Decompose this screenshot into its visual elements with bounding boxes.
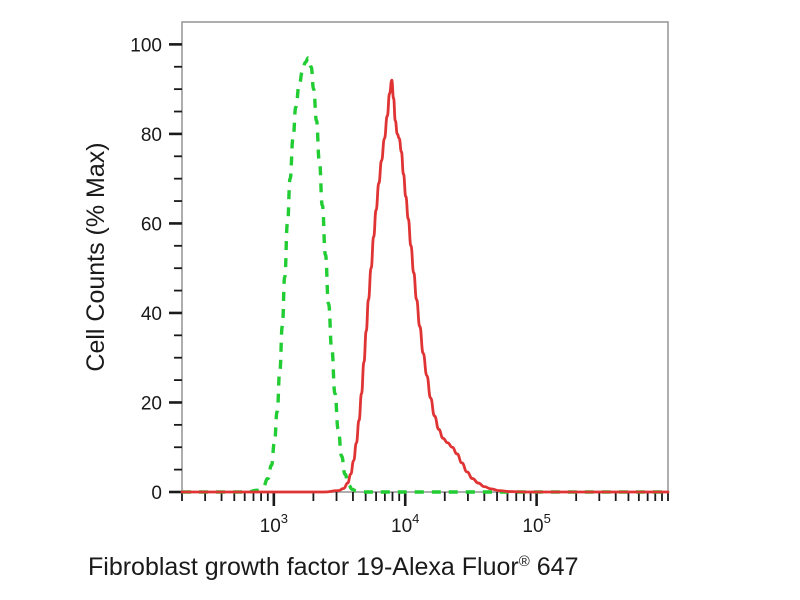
y-tick-label: 0 — [151, 483, 162, 504]
x-tick-label-base: 10 — [391, 516, 412, 537]
flow-cytometry-histogram-figure: 020406080100 103104105 Cell Counts (% Ma… — [0, 0, 800, 600]
x-tick-label-base: 10 — [522, 516, 543, 537]
y-axis: 020406080100 — [130, 35, 182, 504]
x-tick-label-exponent: 5 — [544, 511, 551, 526]
x-axis: 103104105 — [182, 492, 668, 537]
x-tick-label: 105 — [522, 511, 550, 537]
x-axis-title-tail: 647 — [530, 553, 579, 581]
histogram-curve-sample — [182, 80, 668, 492]
y-tick-label: 80 — [141, 125, 162, 146]
y-tick-label: 60 — [141, 214, 162, 235]
x-tick-label-exponent: 4 — [412, 511, 419, 526]
x-tick-label-base: 10 — [260, 516, 281, 537]
x-axis-title-text: Fibroblast growth factor 19-Alexa Fluor®… — [88, 553, 578, 581]
y-axis-title: Cell Counts (% Max) — [82, 142, 110, 371]
x-tick-label-exponent: 3 — [281, 511, 288, 526]
histogram-curve-control — [182, 58, 668, 492]
plot-frame — [182, 22, 668, 492]
x-axis-title: Fibroblast growth factor 19-Alexa Fluor®… — [88, 553, 578, 581]
x-tick-label: 103 — [260, 511, 288, 537]
y-tick-label: 100 — [130, 35, 162, 56]
x-tick-label: 104 — [391, 511, 419, 537]
y-tick-label: 20 — [141, 393, 162, 414]
y-tick-label: 40 — [141, 304, 162, 325]
x-axis-title-main: Fibroblast growth factor 19-Alexa Fluor — [88, 553, 519, 581]
y-axis-title-text: Cell Counts (% Max) — [82, 142, 110, 371]
registered-mark-icon: ® — [519, 553, 530, 570]
data-curves — [182, 58, 668, 492]
chart-canvas: 020406080100 103104105 Cell Counts (% Ma… — [0, 0, 800, 600]
